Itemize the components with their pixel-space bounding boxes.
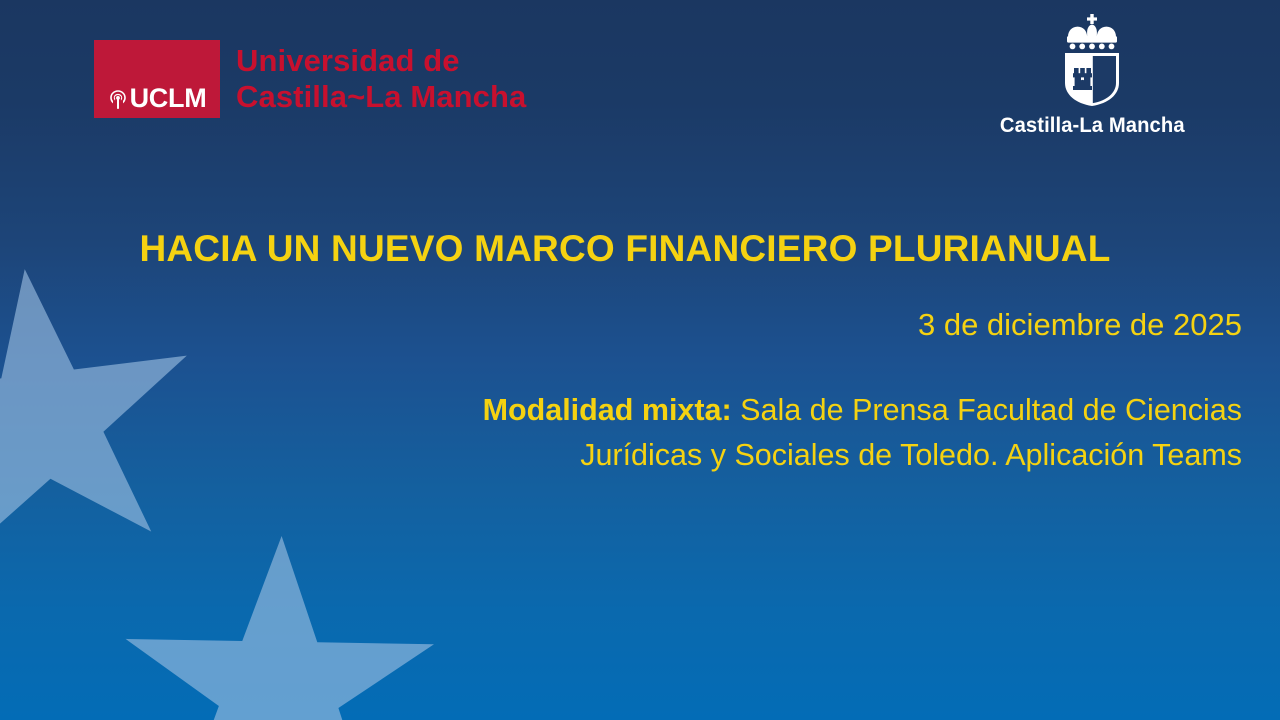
uclm-antenna-icon (108, 88, 128, 110)
castilla-la-mancha-logo: Castilla-La Mancha (992, 12, 1192, 138)
decorative-star-bottom (117, 533, 440, 720)
slide-title: HACIA UN NUEVO MARCO FINANCIERO PLURIANU… (0, 228, 1250, 270)
uclm-name-line-1: Universidad de (236, 43, 526, 79)
presentation-slide: UCLM Universidad de Castilla~La Mancha (0, 0, 1280, 720)
slide-date: 3 de diciembre de 2025 (918, 307, 1242, 343)
uclm-logo: UCLM Universidad de Castilla~La Mancha (94, 40, 526, 118)
uclm-wordmark: Universidad de Castilla~La Mancha (236, 43, 526, 116)
castilla-la-mancha-wordmark: Castilla-La Mancha (1000, 113, 1185, 138)
uclm-abbreviation: UCLM (130, 85, 207, 112)
uclm-name-line-2: Castilla~La Mancha (236, 79, 526, 115)
uclm-mark-inner: UCLM (108, 85, 207, 112)
slide-modality: Modalidad mixta: Sala de Prensa Facultad… (422, 388, 1242, 478)
decorative-star-left (0, 250, 215, 586)
uclm-logo-mark: UCLM (94, 40, 220, 118)
modality-label: Modalidad mixta: (483, 393, 732, 427)
castilla-la-mancha-coat-of-arms-icon (1048, 12, 1136, 108)
